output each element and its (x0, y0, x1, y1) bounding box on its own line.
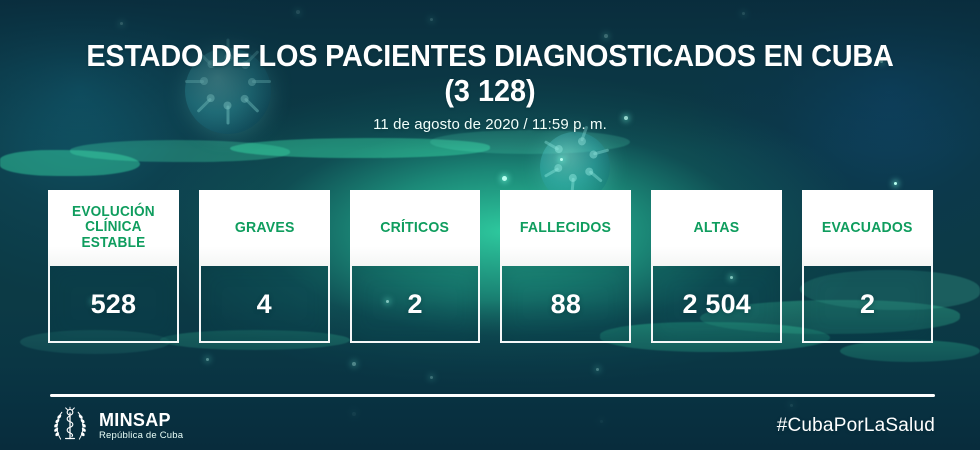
stat-card-label: CRÍTICOS (381, 220, 450, 236)
stat-card-body: 2 (802, 266, 933, 343)
stat-card-criticos: CRÍTICOS 2 (350, 190, 481, 343)
stat-card-header: EVACUADOS (802, 190, 933, 266)
stat-card-value: 2 504 (682, 289, 751, 319)
minsap-logo: MINSAP República de Cuba (50, 406, 183, 446)
stat-card-value: 2 (407, 289, 422, 319)
report-timestamp: 11 de agosto de 2020 / 11:59 p. m. (0, 116, 980, 134)
stat-card-label: FALLECIDOS (520, 220, 611, 236)
stat-card-header: CRÍTICOS (350, 190, 481, 266)
stat-card-value: 2 (860, 289, 875, 319)
page-title: ESTADO DE LOS PACIENTES DIAGNOSTICADOS E… (34, 38, 945, 74)
infographic-poster: ESTADO DE LOS PACIENTES DIAGNOSTICADOS E… (0, 0, 980, 450)
stat-card-evolucion-clinica-estable: EVOLUCIÓN CLÍNICA ESTABLE 528 (48, 190, 179, 343)
stat-card-body: 4 (199, 266, 330, 343)
stat-card-altas: ALTAS 2 504 (651, 190, 782, 343)
stat-card-body: 2 504 (651, 266, 782, 343)
stat-card-header: GRAVES (199, 190, 330, 266)
stat-card-header: ALTAS (651, 190, 782, 266)
stat-card-label: GRAVES (234, 220, 294, 236)
stat-card-fallecidos: FALLECIDOS 88 (500, 190, 631, 343)
stat-card-label: ALTAS (694, 220, 740, 236)
caduceus-laurel-icon (50, 406, 90, 446)
stat-card-body: 2 (350, 266, 481, 343)
stat-card-graves: GRAVES 4 (199, 190, 330, 343)
brand-name: MINSAP (99, 411, 183, 429)
stat-card-value: 528 (91, 289, 137, 319)
footer-divider (50, 394, 935, 397)
total-count: (3 128) (34, 74, 945, 108)
stat-card-label: EVACUADOS (822, 220, 913, 236)
stat-card-value: 4 (257, 289, 272, 319)
stat-card-value: 88 (551, 289, 581, 319)
header-block: ESTADO DE LOS PACIENTES DIAGNOSTICADOS E… (0, 38, 980, 134)
stat-card-body: 88 (500, 266, 631, 343)
stat-card-evacuados: EVACUADOS 2 (802, 190, 933, 343)
campaign-hashtag: #CubaPorLaSalud (777, 415, 935, 437)
stat-card-header: EVOLUCIÓN CLÍNICA ESTABLE (48, 190, 179, 266)
stat-card-header: FALLECIDOS (500, 190, 631, 266)
stat-card-body: 528 (48, 266, 179, 343)
stats-card-row: EVOLUCIÓN CLÍNICA ESTABLE 528 GRAVES 4 C… (48, 190, 933, 343)
brand-subtitle: República de Cuba (99, 431, 183, 441)
stat-card-label: EVOLUCIÓN CLÍNICA ESTABLE (58, 205, 170, 252)
footer: MINSAP República de Cuba #CubaPorLaSalud (50, 404, 935, 448)
